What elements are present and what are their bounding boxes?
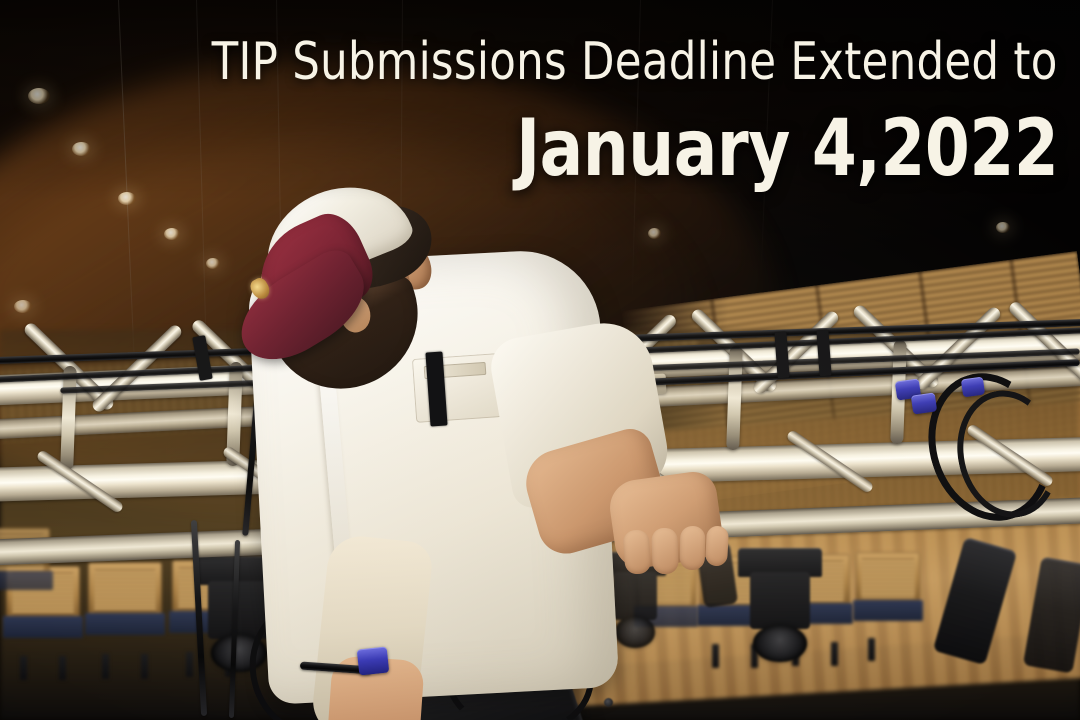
finger [651, 528, 679, 575]
finger [622, 529, 651, 575]
stage-technician [200, 178, 640, 720]
scene-photograph [0, 0, 1080, 720]
xlr-connector [961, 377, 985, 398]
truss-vertical-post [60, 366, 77, 470]
xlr-connector-in-hand [357, 647, 390, 676]
promo-banner: TIP Submissions Deadline Extended to Jan… [0, 0, 1080, 720]
xlr-connector [911, 392, 937, 414]
finger [680, 526, 706, 570]
finger [705, 525, 729, 566]
